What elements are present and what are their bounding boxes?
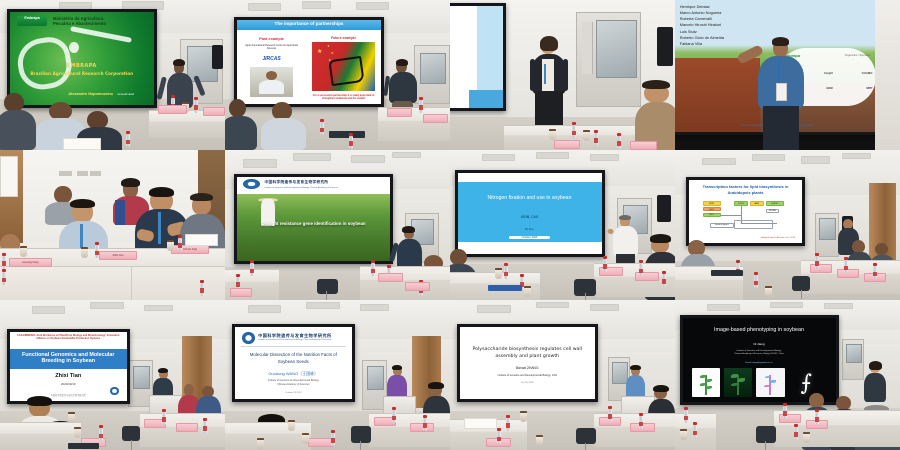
lab-cabinet <box>815 213 840 257</box>
slide-partnerships: The importance of partnerships Past exam… <box>237 20 381 104</box>
team-name-list: Henrique Debiasi Marco Antonio Nogueira … <box>680 4 724 47</box>
sponsor-logo: GDM <box>826 86 833 90</box>
collage-panel-5[interactable]: Guodong Wang Zhixi Tian Wenxin Yang <box>0 150 225 300</box>
water-bottle <box>572 125 576 138</box>
diagram-box: MYB89 <box>766 209 780 213</box>
coffee-cup <box>765 286 772 297</box>
slide-citation: Adapted from Li-Beisson et al., 2013 <box>761 237 795 239</box>
name-card <box>158 105 187 114</box>
water-bottle <box>594 133 598 146</box>
wall-speaker <box>212 45 223 69</box>
slide-blue-band <box>458 182 602 242</box>
slide-email: E-mail: njiang@genetics.ac.cn <box>683 362 836 364</box>
diagram-box: LEC1 <box>703 207 721 211</box>
workshop-header: CAS-EMBRAPA Joint Workshop on Plant/Crop… <box>13 334 123 341</box>
divider <box>241 346 346 347</box>
water-bottle <box>506 418 510 431</box>
presenter <box>612 216 639 270</box>
wall-speaker <box>657 27 673 66</box>
projection-screen: Nitrogen fixation and use in soybean IGD… <box>455 170 605 257</box>
water-bottle <box>392 410 396 423</box>
cas-seal-icon <box>110 387 118 395</box>
slide-presenter: Ni Jiang <box>683 342 836 346</box>
presenter <box>531 39 567 129</box>
slide-molecular-dissection: 中国科学院遗传与发育生物学研究所 Institute of Genetics a… <box>235 327 352 399</box>
handout <box>185 234 219 247</box>
chair <box>351 426 371 443</box>
projection-screen: The importance of partnerships Past exam… <box>234 17 384 107</box>
slide-footer: For a successful partnership it is reall… <box>312 94 375 101</box>
slide-polysaccharide: Polysaccharide biosynthesis regulates ce… <box>460 327 595 399</box>
slide-affiliation: Institute of Genetics and Developmental … <box>683 350 836 356</box>
collage-panel-3[interactable]: rience ding international that soybean <box>450 0 675 150</box>
chair <box>576 428 596 445</box>
name-card <box>779 414 801 423</box>
water-bottle <box>815 256 819 269</box>
projection-screen: Transcription factors for lipid biosynth… <box>686 177 805 246</box>
name-card <box>423 114 448 123</box>
lab-cabinet <box>842 339 864 380</box>
collage-panel-12[interactable]: Image-based phenotyping in soybean Ni Ji… <box>675 300 900 450</box>
audience-member <box>225 99 257 150</box>
diagram-box: FUS3 <box>734 201 748 205</box>
water-bottle <box>639 416 643 429</box>
sponsor-logo: COAMO <box>862 71 873 75</box>
name-card <box>630 141 657 150</box>
water-bottle <box>2 256 6 269</box>
handout <box>464 418 498 429</box>
water-bottle <box>662 274 666 287</box>
laptop <box>488 285 522 291</box>
water-bottle <box>178 238 182 251</box>
coffee-cup <box>520 411 527 422</box>
slide-transcription-factors: Transcription factors for lipid biosynth… <box>689 180 802 243</box>
slide-affiliation: Institute of Genetics and Developmental … <box>460 374 595 377</box>
sponsor-logo: Cargill <box>824 71 833 75</box>
water-bottle <box>331 433 335 446</box>
coffee-cup <box>549 129 556 140</box>
ministry-text: Ministério da AgriculturaPecuária e Abas… <box>53 16 106 26</box>
cas-seal-icon <box>243 179 260 189</box>
institute-en: Institute of Genetics and Developmental … <box>265 187 338 189</box>
collage-panel-2[interactable]: The importance of partnerships Past exam… <box>225 0 450 150</box>
water-bottle <box>162 412 166 425</box>
jircas-logo: JIRCAS <box>254 56 289 62</box>
field-photo <box>675 58 760 132</box>
laptop <box>68 443 100 449</box>
diagram-box: WRI1 <box>703 201 721 205</box>
laptop <box>329 131 365 139</box>
presenter <box>864 363 887 402</box>
name-card-zhixi-tian: Zhixi Tian <box>99 251 137 260</box>
spoon-graphic <box>67 31 133 59</box>
water-bottle <box>608 409 612 422</box>
lab-cabinet <box>414 45 450 104</box>
water-bottle <box>194 100 198 113</box>
name-card-guodong-wang: Guodong Wang <box>9 258 52 267</box>
coffee-cup <box>20 246 27 257</box>
water-bottle <box>504 266 508 279</box>
slide-presenter: Guodong WANG（王国栋） <box>235 371 352 377</box>
collage-panel-7[interactable]: Nitrogen fixation and use in soybean IGD… <box>450 150 675 300</box>
sponsor-logo: MPP <box>866 86 872 90</box>
diagram-box: LEC2 <box>703 213 721 217</box>
slide-date: 2023/10/13 <box>10 382 127 386</box>
slide-title: Drought resistance gene identification i… <box>237 221 390 226</box>
name-card <box>230 288 252 297</box>
name-card <box>378 273 403 282</box>
water-bottle <box>371 263 375 276</box>
water-bottle <box>95 245 99 258</box>
water-bottle <box>250 263 254 276</box>
water-bottle <box>320 122 324 135</box>
slide-header: 中国科学院遗传与发育生物学研究所 Institute of Genetics a… <box>237 177 390 194</box>
slide-partial-text: rience ding international that soybean <box>450 6 503 108</box>
chair-leg <box>585 293 586 301</box>
slide-affiliation: Institute of Genetics and Developmental … <box>235 379 352 387</box>
embrapa-logo: Embrapa <box>17 16 47 26</box>
name-card <box>176 423 198 432</box>
collage-panel-9[interactable]: CAS-EMBRAPA Joint Workshop on Plant/Crop… <box>0 300 225 450</box>
projection-screen: 中国科学院遗传与发育生物学研究所 Institute of Genetics a… <box>234 174 393 264</box>
water-bottle <box>200 283 204 296</box>
slide-drought-resistance: 中国科学院遗传与发育生物学研究所 Institute of Genetics a… <box>237 177 390 261</box>
laptop <box>711 270 743 276</box>
cabinet-glass <box>596 20 637 78</box>
slide-title: EMBRAPA <box>10 63 154 69</box>
water-bottle <box>603 259 607 272</box>
chair-leg <box>360 441 361 450</box>
wall-speaker <box>657 195 671 222</box>
slide-title: Molecular Dissection of the Nutrition Fa… <box>244 351 342 366</box>
slide-subtitle: Brazilian Agricultural Research Corporat… <box>10 71 154 76</box>
person-name: Alexandre Nepomuceno <box>68 91 113 96</box>
water-bottle <box>794 427 798 440</box>
water-bottle <box>2 272 6 285</box>
coffee-cup <box>803 432 810 443</box>
slide-nitrogen-fixation: Nitrogen fixation and use in soybean IGD… <box>458 173 602 254</box>
chair <box>756 426 776 443</box>
cas-seal-icon <box>242 332 255 344</box>
name-card <box>410 423 435 432</box>
thumbnail-skeleton-plant <box>756 368 784 397</box>
institute-en: Institute of Genetics and Developmental … <box>258 339 331 341</box>
institute-cn: 中国科学院遗传与发育生物学研究所 <box>258 333 332 339</box>
slide-corner-band <box>469 90 503 108</box>
institute-cn: 中国科学院遗传与发育生物学研究所 <box>265 180 329 185</box>
name-card <box>554 140 581 149</box>
name-card <box>203 107 225 116</box>
left-table <box>225 422 311 450</box>
water-bottle <box>203 421 207 434</box>
coffee-cup <box>167 240 174 251</box>
water-bottle <box>693 425 697 438</box>
coffee-cup <box>288 420 295 431</box>
diagram-box: Seed oil genes <box>710 223 735 228</box>
coffee-cup <box>524 286 531 297</box>
coffee-cup <box>583 130 590 141</box>
water-bottle <box>783 406 787 419</box>
coffee-cup <box>81 247 88 258</box>
projection-screen: rience ding international that soybean <box>450 3 506 111</box>
diagram-box: bZIP67 <box>766 201 784 205</box>
researcher-photo <box>250 67 293 97</box>
diagram-box: ABI3 <box>750 201 764 205</box>
water-bottle <box>126 134 130 147</box>
collage-panel-8[interactable]: Transcription factors for lipid biosynth… <box>675 150 900 300</box>
slide-organization: IGDB, CAS <box>458 215 602 219</box>
title-band: Functional Genomics and Molecular Breedi… <box>10 349 127 369</box>
water-bottle <box>815 412 819 425</box>
slide-date: Oct 13, 2023 <box>460 382 595 384</box>
lab-cabinet <box>576 12 641 107</box>
slide-date: October 2023 <box>509 236 549 239</box>
water-bottle <box>754 275 758 288</box>
institute-cn: 中国科学院遗传与发育生物学研究所 <box>10 393 127 397</box>
presenter <box>756 39 806 150</box>
audience-member <box>635 83 676 151</box>
water-bottle <box>423 418 427 431</box>
collage-panel-4[interactable]: Henrique Debiasi Marco Antonio Nogueira … <box>675 0 900 150</box>
coffee-cup <box>680 429 687 440</box>
collage-panel-11[interactable]: Polysaccharide biosynthesis regulates ce… <box>450 300 675 450</box>
handshake-icon <box>328 56 364 87</box>
water-bottle <box>99 428 103 441</box>
chair <box>317 279 337 294</box>
projection-screen: Image-based phenotyping in soybean Ni Ji… <box>680 315 839 405</box>
name-card <box>308 438 333 447</box>
coffee-cup <box>257 438 264 449</box>
thumbnail-photo-plant <box>724 368 752 397</box>
slide-presenter: Bancai ZHANG <box>460 366 595 370</box>
collage-panel-6[interactable]: 中国科学院遗传与发育生物学研究所 Institute of Genetics a… <box>225 150 450 300</box>
root-glyph: ⨍ <box>800 373 811 395</box>
projection-screen: Polysaccharide biosynthesis regulates ce… <box>457 324 598 402</box>
slide-presenter: Zhixi Tian <box>10 373 127 379</box>
slide-presenter: Bo Ren <box>458 228 602 231</box>
slide-image-phenotyping: Image-based phenotyping in soybean Ni Ji… <box>683 318 836 402</box>
name-card <box>405 282 430 291</box>
audience-member <box>261 102 306 150</box>
chair-leg <box>765 441 766 450</box>
past-example-label: Past example <box>243 36 301 41</box>
water-bottle <box>419 100 423 113</box>
water-bottle <box>497 431 501 444</box>
future-example-label: Future example <box>312 36 375 40</box>
coffee-cup <box>536 435 543 446</box>
name-card <box>810 264 832 273</box>
paper-sheet <box>63 138 101 151</box>
slide-title: Image-based phenotyping in soybean <box>683 327 836 333</box>
coffee-cup <box>68 412 75 423</box>
slide-functional-genomics: CAS-EMBRAPA Joint Workshop on Plant/Crop… <box>10 332 127 401</box>
projection-screen: CAS-EMBRAPA Joint Workshop on Plant/Crop… <box>7 329 130 404</box>
photo-collage: Embrapa Ministério da AgriculturaPecuári… <box>0 0 900 450</box>
chair-leg <box>326 291 327 300</box>
team-name: Marcelo Hiroshi Hirakuri <box>680 22 724 28</box>
sponsors-label: Organizers / Sponsors <box>845 54 871 57</box>
coffee-cup <box>302 433 309 444</box>
collage-panel-1[interactable]: Embrapa Ministério da AgriculturaPecuári… <box>0 0 225 150</box>
coffee-cup <box>495 268 502 279</box>
water-bottle <box>617 136 621 149</box>
audience-member <box>0 93 36 150</box>
water-bottle <box>873 266 877 279</box>
jircas-caption: Japan International Research Center for … <box>243 45 301 51</box>
slide-header: The importance of partnerships <box>237 20 381 31</box>
projection-screen: 中国科学院遗传与发育生物学研究所 Institute of Genetics a… <box>232 324 355 402</box>
slide-title: Nitrogen fixation and use in soybean <box>458 195 602 201</box>
water-bottle <box>349 136 353 149</box>
water-bottle <box>684 410 688 423</box>
field-photo: Drought resistance gene identification i… <box>237 194 390 261</box>
person-role: General Head <box>117 93 134 96</box>
thumbnail-segmented-plant <box>692 368 720 397</box>
name-card <box>387 108 412 117</box>
slide-date: October 13 2023 <box>235 392 352 394</box>
collage-panel-10[interactable]: 中国科学院遗传与发育生物学研究所 Institute of Genetics a… <box>225 300 450 450</box>
slide-title: Polysaccharide biosynthesis regulates ce… <box>469 346 585 362</box>
slide-title: Functional Genomics and Molecular Breedi… <box>14 352 122 366</box>
slide-embrapa-intro: Embrapa Ministério da AgriculturaPecuári… <box>10 12 154 105</box>
chair-leg <box>131 440 132 450</box>
coffee-cup <box>74 427 81 438</box>
slide-title: Transcription factors for lipid biosynth… <box>694 184 798 195</box>
water-bottle <box>844 260 848 273</box>
chair-leg <box>801 290 802 299</box>
water-bottle <box>639 263 643 276</box>
china-brazil-flags: ★ ★ ★ ★ <box>312 42 375 91</box>
team-name: Fabiana Villa <box>680 41 724 47</box>
chair-leg <box>585 443 586 450</box>
name-card <box>837 269 859 278</box>
